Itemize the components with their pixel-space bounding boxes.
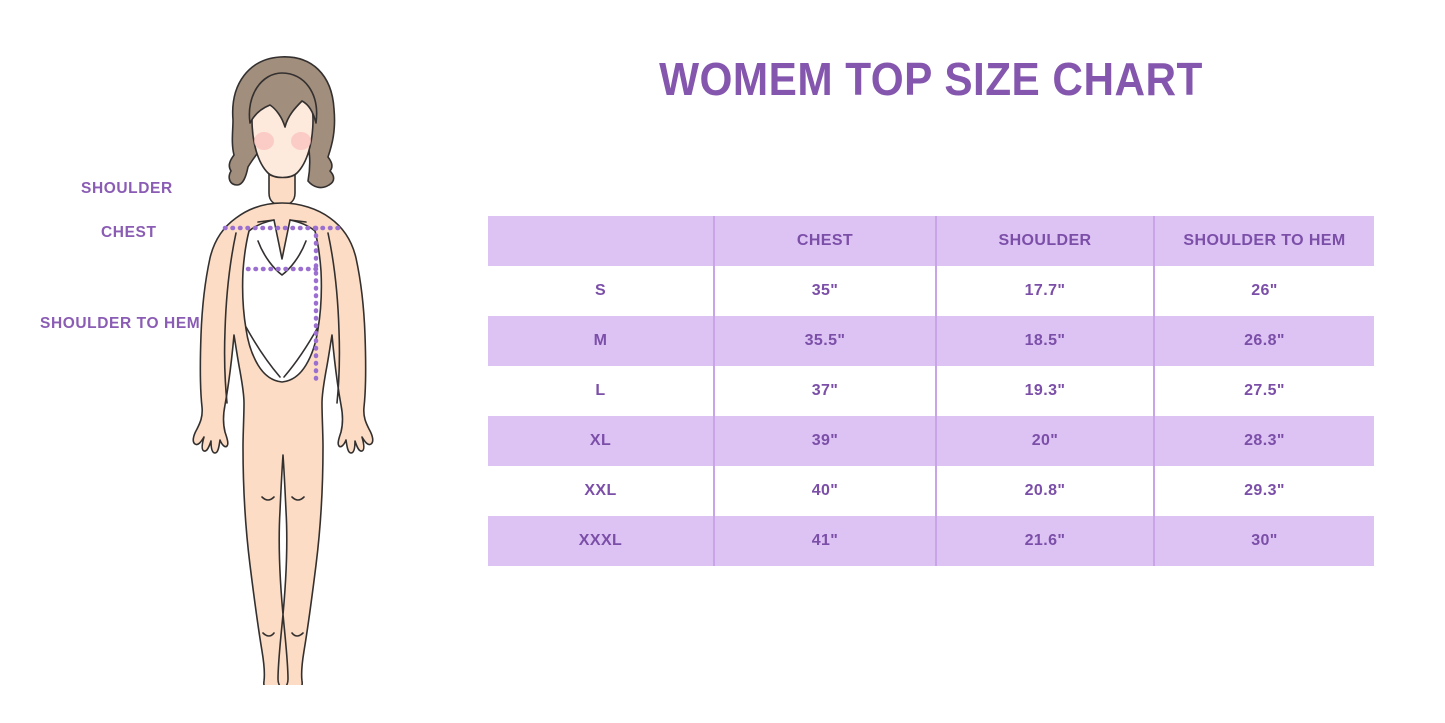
table-header-row: CHEST SHOULDER SHOULDER TO HEM [488,216,1374,266]
cell-size: XXXL [488,516,714,566]
cell-chest: 37" [714,366,936,416]
cell-chest: 40" [714,466,936,516]
cell-chest: 35.5" [714,316,936,366]
cell-shoulder-to-hem: 27.5" [1154,366,1374,416]
cell-shoulder: 17.7" [936,266,1154,316]
header-size [488,216,714,266]
cell-shoulder-to-hem: 29.3" [1154,466,1374,516]
table-row: XL 39" 20" 28.3" [488,416,1374,466]
table-row: XXXL 41" 21.6" 30" [488,516,1374,566]
header-shoulder: SHOULDER [936,216,1154,266]
cell-shoulder-to-hem: 26.8" [1154,316,1374,366]
cell-shoulder-to-hem: 26" [1154,266,1374,316]
size-chart-table: CHEST SHOULDER SHOULDER TO HEM S 35" 17.… [488,216,1374,566]
cell-size: XL [488,416,714,466]
table-row: S 35" 17.7" 26" [488,266,1374,316]
cell-shoulder-to-hem: 28.3" [1154,416,1374,466]
header-shoulder-to-hem: SHOULDER TO HEM [1154,216,1374,266]
cell-shoulder: 20.8" [936,466,1154,516]
label-chest: CHEST [101,224,157,242]
cell-size: L [488,366,714,416]
cell-shoulder: 18.5" [936,316,1154,366]
size-chart-page: WOMEM TOP SIZE CHART [0,0,1445,723]
blush-right [291,132,311,150]
header-chest: CHEST [714,216,936,266]
table-row: XXL 40" 20.8" 29.3" [488,466,1374,516]
label-shoulder: SHOULDER [81,180,173,198]
table-row: L 37" 19.3" 27.5" [488,366,1374,416]
cell-shoulder-to-hem: 30" [1154,516,1374,566]
cell-shoulder: 21.6" [936,516,1154,566]
page-title: WOMEM TOP SIZE CHART [523,52,1338,106]
cell-chest: 39" [714,416,936,466]
cell-shoulder: 20" [936,416,1154,466]
table-row: M 35.5" 18.5" 26.8" [488,316,1374,366]
cell-shoulder: 19.3" [936,366,1154,416]
label-shoulder-to-hem: SHOULDER TO HEM [40,315,200,333]
blush-left [254,132,274,150]
cell-chest: 41" [714,516,936,566]
cell-size: S [488,266,714,316]
cell-size: M [488,316,714,366]
cell-chest: 35" [714,266,936,316]
female-body-illustration [170,45,420,685]
cell-size: XXL [488,466,714,516]
